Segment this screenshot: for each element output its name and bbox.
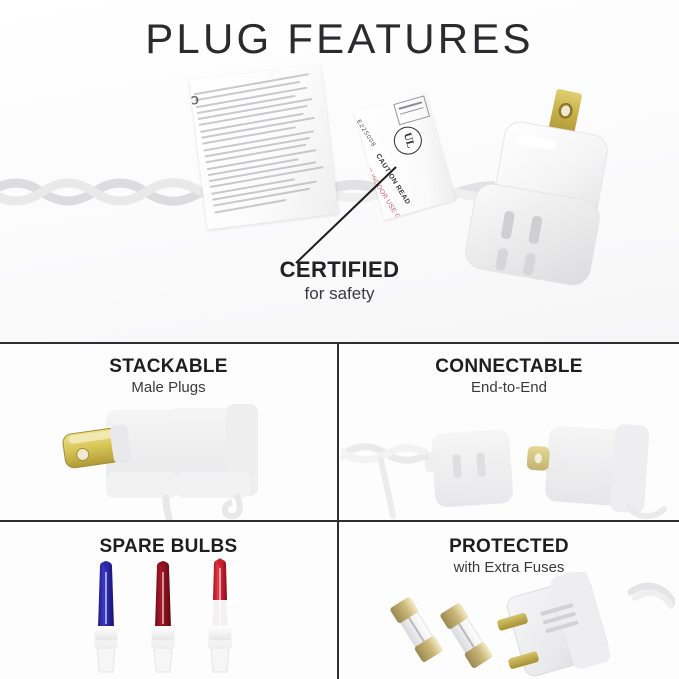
callout-certified: CERTIFIED for safety [0, 258, 679, 304]
feature-title: CONNECTABLE [339, 356, 679, 378]
feature-subtitle: with Extra Fuses [339, 559, 679, 576]
feature-panel-stackable: STACKABLE Male Plugs [0, 344, 337, 520]
feature-panel-spare-bulbs: SPARE BULBS [0, 522, 337, 679]
callout-leader-line [290, 165, 400, 265]
feature-heading-stackable: STACKABLE Male Plugs [0, 356, 337, 396]
feature-title: STACKABLE [0, 356, 337, 378]
hero-panel: PLUG FEATURES [0, 0, 679, 343]
spare-fuses-icon [372, 592, 512, 672]
feature-heading-spare-bulbs: SPARE BULBS [0, 536, 337, 559]
caution-label: CAUTION [189, 93, 199, 108]
page-title: PLUG FEATURES [0, 18, 679, 60]
feature-title: SPARE BULBS [0, 536, 337, 558]
twisted-wire-illustration [0, 176, 220, 206]
ul-mark-icon: UL [391, 123, 426, 158]
feature-heading-protected: PROTECTED with Extra Fuses [339, 536, 679, 576]
feature-subtitle: Male Plugs [0, 379, 337, 396]
bulb-blue [94, 561, 118, 672]
feature-panel-connectable: CONNECTABLE End-to-End [339, 344, 679, 520]
ul-serial-text: E225008 [355, 119, 377, 148]
feature-subtitle: End-to-End [339, 379, 679, 396]
stacked-male-plugs-icon [20, 398, 337, 520]
feature-panel-protected: PROTECTED with Extra Fuses [339, 522, 679, 679]
feature-heading-connectable: CONNECTABLE End-to-End [339, 356, 679, 396]
callout-subtitle: for safety [0, 285, 679, 304]
bulb-dark-red [151, 561, 175, 672]
end-to-end-plugs-icon [341, 404, 679, 519]
plug-features-infographic: PLUG FEATURES [0, 0, 679, 679]
spare-bulbs-icon [86, 556, 256, 676]
made-in-box [393, 95, 430, 125]
fuse-holder-plug-icon [485, 572, 675, 679]
feature-title: PROTECTED [339, 536, 679, 558]
bulb-red [208, 559, 232, 673]
callout-title: CERTIFIED [0, 258, 679, 282]
